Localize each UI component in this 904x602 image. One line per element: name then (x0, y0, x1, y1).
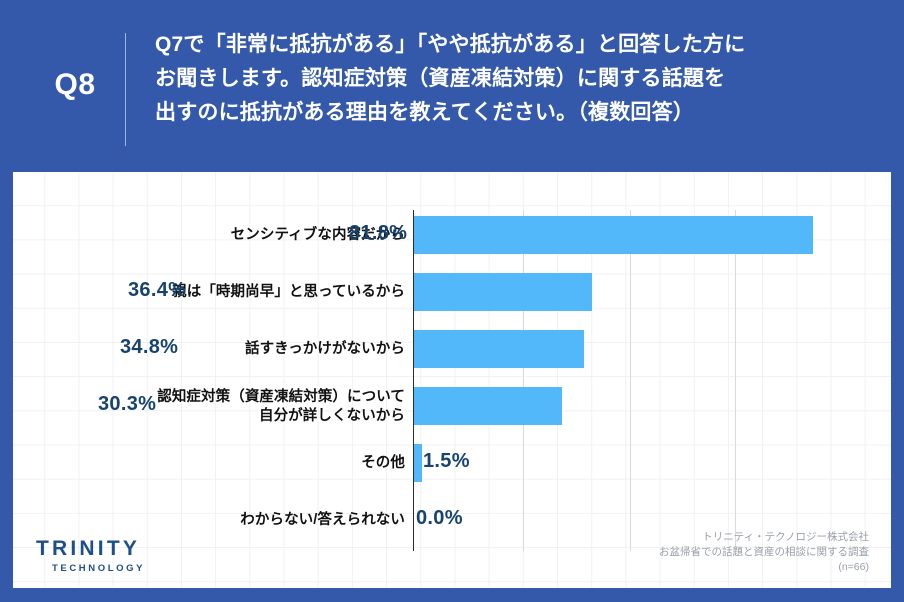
credits-company: トリニティ・テクノロジー株式会社 (489, 530, 869, 545)
trinity-logo: TRINITY TECHNOLOGY (36, 537, 196, 577)
header-divider (125, 33, 126, 146)
bar-category-label: 話すきっかけがないから (65, 340, 405, 359)
bar-value-label: 1.5% (423, 450, 470, 473)
chart-bar-row: センシティブな内容だから 81.8% (13, 210, 891, 260)
bar-category-label: 親は「時期尚早」と思っているから (65, 283, 405, 302)
chart-bar-row: 話すきっかけがないから 34.8% (13, 324, 891, 374)
question-text-line-1: Q7で「非常に抵抗がある」「やや抵抗がある」と回答した方に (155, 28, 875, 62)
bar-fill (414, 387, 562, 425)
bar-fill (414, 273, 592, 311)
bar-value-label: 30.3% (98, 393, 156, 416)
question-text-line-3: 出すのに抵抗がある理由を教えてください。（複数回答） (155, 96, 875, 130)
bar-value-label: 36.4% (128, 279, 186, 302)
logo-tagline: TECHNOLOGY (36, 561, 196, 577)
question-number: Q8 (30, 68, 120, 102)
bar-value-label: 0.0% (416, 507, 463, 530)
bar-fill (414, 444, 422, 482)
credits-block: トリニティ・テクノロジー株式会社 お盆帰省での話題と資産の相談に関する調査 (n… (489, 530, 869, 575)
logo-wordmark: TRINITY (36, 537, 196, 561)
bar-value-label: 34.8% (120, 336, 178, 359)
bar-fill (414, 330, 584, 368)
question-header: Q8 Q7で「非常に抵抗がある」「やや抵抗がある」と回答した方に お聞きします。… (0, 0, 904, 165)
chart-bar-row: 親は「時期尚早」と思っているから 36.4% (13, 267, 891, 317)
chart-panel: センシティブな内容だから 81.8% 親は「時期尚早」と思っているから 36.4… (13, 172, 891, 588)
bar-category-label: その他 (65, 454, 405, 473)
question-text: Q7で「非常に抵抗がある」「やや抵抗がある」と回答した方に お聞きします。認知症… (155, 28, 875, 130)
chart-bar-row: 認知症対策（資産凍結対策）について 自分が詳しくないから 30.3% (13, 381, 891, 431)
credits-survey: お盆帰省での話題と資産の相談に関する調査 (489, 545, 869, 560)
credits-sample-size: (n=66) (489, 560, 869, 575)
question-text-line-2: お聞きします。認知症対策（資産凍結対策）に関する話題を (155, 62, 875, 96)
bar-category-label: わからない/答えられない (65, 511, 405, 530)
bar-fill (414, 216, 813, 254)
chart-bar-row: その他 1.5% (13, 438, 891, 488)
bar-value-label: 81.8% (349, 222, 407, 245)
slide-root: Q8 Q7で「非常に抵抗がある」「やや抵抗がある」と回答した方に お聞きします。… (0, 0, 904, 602)
